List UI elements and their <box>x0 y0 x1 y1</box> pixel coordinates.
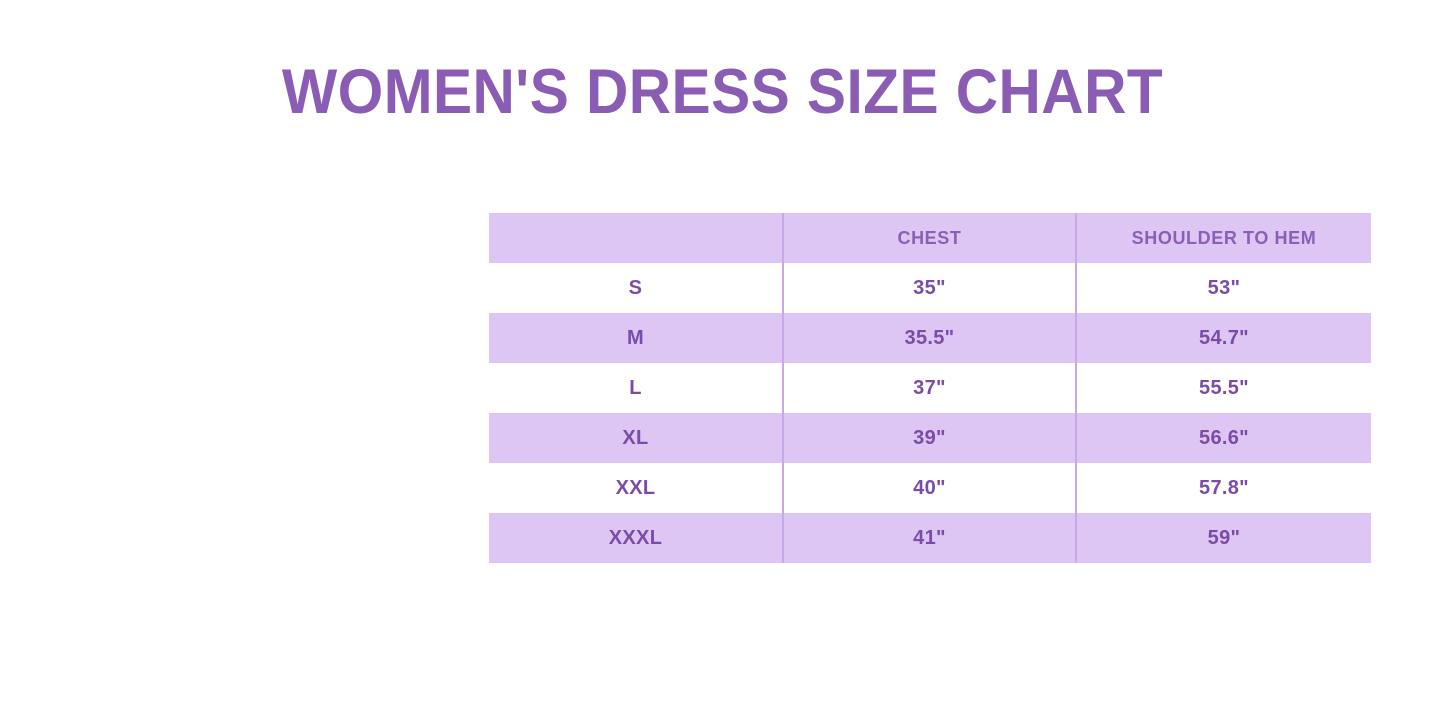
cell-size: S <box>489 263 783 313</box>
cell-shoulder-to-hem: 59" <box>1076 513 1371 563</box>
size-chart-page: WOMEN'S DRESS SIZE CHART CHEST SHOULDER … <box>0 0 1445 723</box>
table-row: S 35" 53" <box>489 263 1371 313</box>
table-body: S 35" 53" M 35.5" 54.7" L 37" 55.5" XL 3… <box>489 263 1371 563</box>
column-header-size <box>489 213 783 263</box>
column-header-shoulder-to-hem: SHOULDER TO HEM <box>1076 213 1371 263</box>
table-row: M 35.5" 54.7" <box>489 313 1371 363</box>
cell-chest: 35" <box>783 263 1076 313</box>
table-row: XXL 40" 57.8" <box>489 463 1371 513</box>
cell-size: M <box>489 313 783 363</box>
table-row: L 37" 55.5" <box>489 363 1371 413</box>
cell-size: XL <box>489 413 783 463</box>
table-row: XL 39" 56.6" <box>489 413 1371 463</box>
table-row: XXXL 41" 59" <box>489 513 1371 563</box>
cell-chest: 37" <box>783 363 1076 413</box>
cell-chest: 35.5" <box>783 313 1076 363</box>
cell-chest: 39" <box>783 413 1076 463</box>
cell-size: XXXL <box>489 513 783 563</box>
size-chart-table: CHEST SHOULDER TO HEM S 35" 53" M 35.5" … <box>489 213 1371 563</box>
cell-shoulder-to-hem: 55.5" <box>1076 363 1371 413</box>
cell-chest: 40" <box>783 463 1076 513</box>
cell-shoulder-to-hem: 53" <box>1076 263 1371 313</box>
cell-shoulder-to-hem: 57.8" <box>1076 463 1371 513</box>
cell-shoulder-to-hem: 56.6" <box>1076 413 1371 463</box>
cell-shoulder-to-hem: 54.7" <box>1076 313 1371 363</box>
page-title: WOMEN'S DRESS SIZE CHART <box>51 56 1395 128</box>
cell-size: L <box>489 363 783 413</box>
column-header-chest: CHEST <box>783 213 1076 263</box>
cell-chest: 41" <box>783 513 1076 563</box>
cell-size: XXL <box>489 463 783 513</box>
size-table-container: CHEST SHOULDER TO HEM S 35" 53" M 35.5" … <box>489 213 1371 563</box>
table-header-row: CHEST SHOULDER TO HEM <box>489 213 1371 263</box>
table-header: CHEST SHOULDER TO HEM <box>489 213 1371 263</box>
